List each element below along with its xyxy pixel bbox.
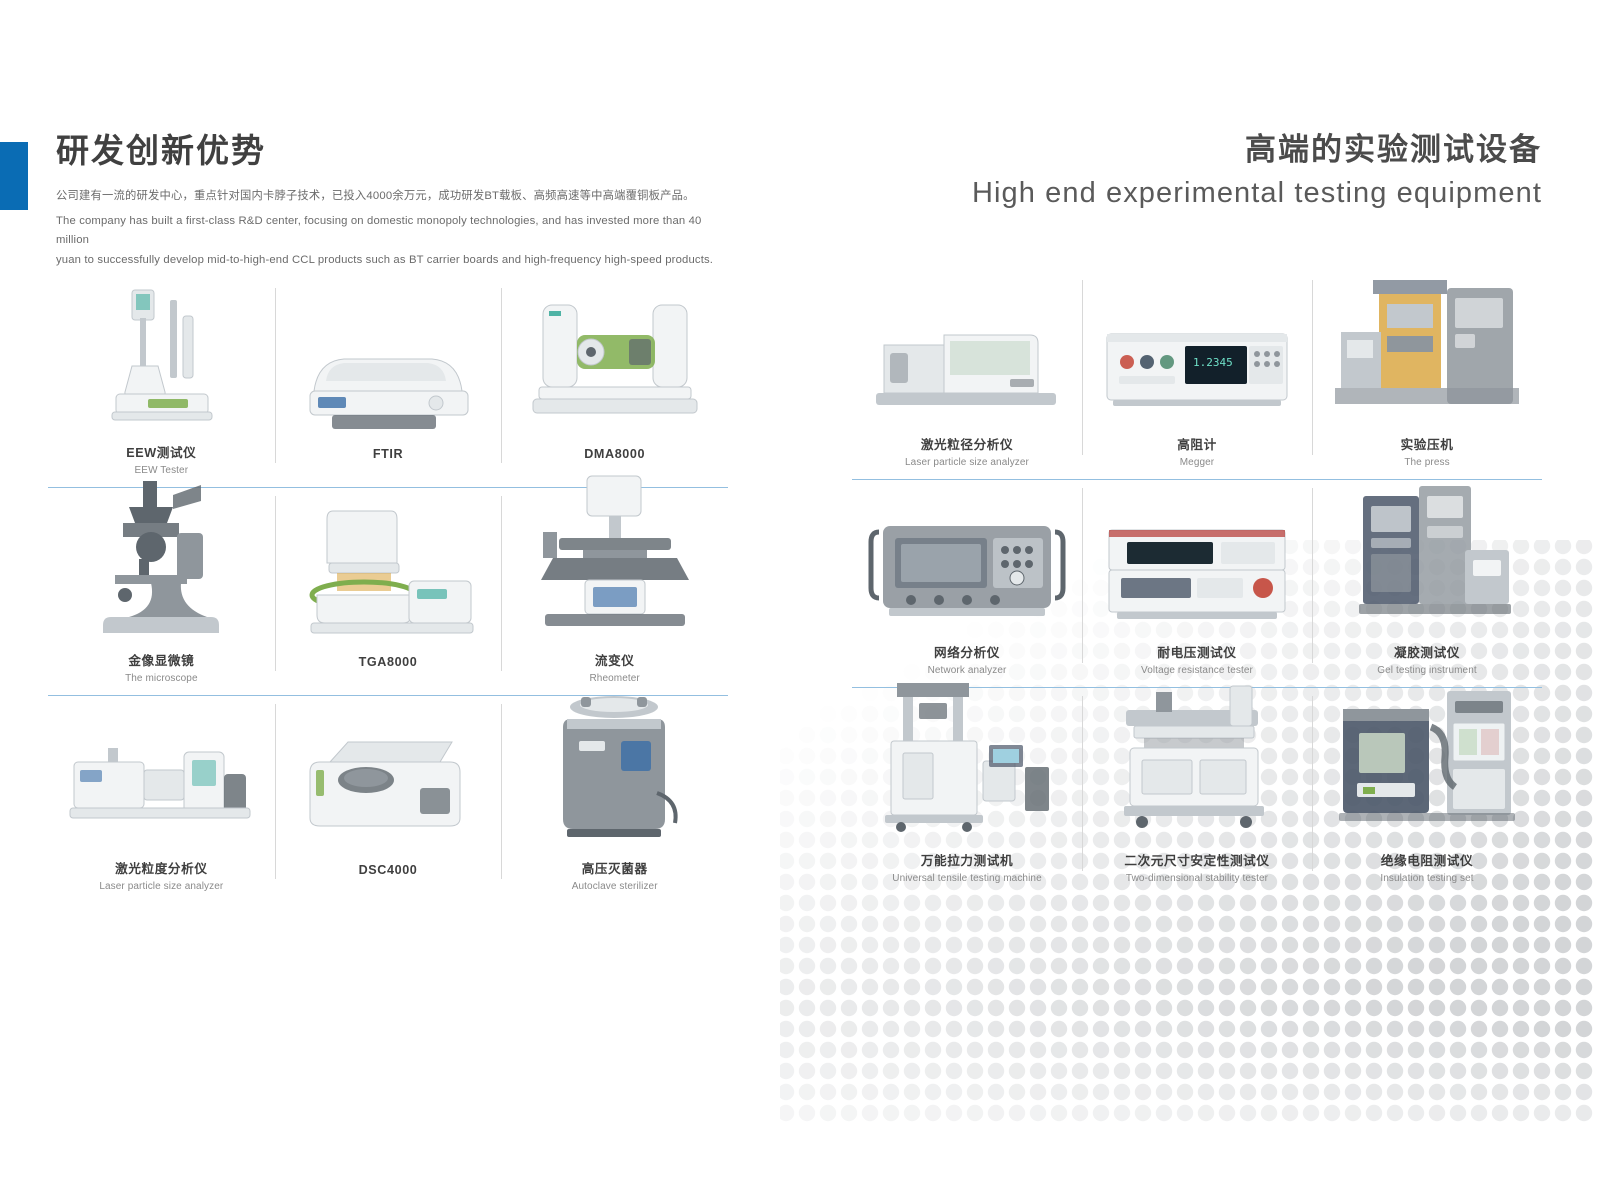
equipment-name-cn: 耐电压测试仪 (1157, 642, 1236, 661)
rnd-advantage-section: 研发创新优势 公司建有一流的研发中心，重点针对国内卡脖子技术，已投入4000余万… (56, 130, 728, 270)
equipment-name-cn: 万能拉力测试机 (921, 850, 1013, 869)
equipment-card[interactable]: 流变仪Rheometer (501, 488, 728, 685)
equipment-card[interactable]: DMA8000 (501, 280, 728, 477)
intro-paragraph-en-line2: yuan to successfully develop mid-to-high… (56, 251, 728, 270)
equipment-card[interactable]: 1.2345高阻计Megger (1082, 272, 1312, 469)
equipment-card[interactable]: 网络分析仪Network analyzer (852, 480, 1082, 677)
equipment-row: 激光粒径分析仪Laser particle size analyzer1.234… (852, 272, 1542, 469)
equipment-name-cn: 实验压机 (1401, 434, 1454, 453)
equipment-card[interactable]: 二次元尺寸安定性测试仪Two-dimensional stability tes… (1082, 688, 1312, 885)
equipment-name-cn: EEW测试仪 (126, 442, 196, 461)
intro-paragraph-en-line1: The company has built a first-class R&D … (56, 212, 728, 251)
equipment-name-cn: TGA8000 (359, 655, 418, 669)
optical-microscope-icon (54, 488, 269, 640)
equipment-row: EEW测试仪EEW TesterFTIRDMA8000 (48, 280, 728, 477)
page-title-right-en: High end experimental testing equipment (972, 174, 1542, 213)
svg-text:1.2345: 1.2345 (1193, 356, 1233, 369)
insulation-testing-set-icon (1318, 688, 1536, 840)
ftir-spectrometer-icon (281, 285, 496, 437)
equipment-name-cn: 金像显微镜 (128, 650, 194, 669)
equipment-name-cn: 高阻计 (1177, 434, 1217, 453)
equipment-grid-right: 激光粒径分析仪Laser particle size analyzer1.234… (852, 272, 1542, 885)
laser-diffraction-analyzer-icon (858, 272, 1076, 424)
intro-paragraph-cn: 公司建有一流的研发中心，重点针对国内卡脖子技术，已投入4000余万元，成功研发B… (56, 187, 728, 206)
equipment-card[interactable]: EEW测试仪EEW Tester (48, 280, 275, 477)
equipment-name-cn: DMA8000 (584, 447, 645, 461)
lab-press-machine-icon (1318, 272, 1536, 424)
equipment-heading-section: 高端的实验测试设备 High end experimental testing … (972, 130, 1542, 213)
titrator-instrument-icon (54, 280, 269, 432)
equipment-name-cn: 高压灭菌器 (582, 858, 648, 877)
equipment-card[interactable]: 激光粒度分析仪Laser particle size analyzer (48, 696, 275, 893)
equipment-name-cn: 凝胶测试仪 (1394, 642, 1460, 661)
equipment-card[interactable]: FTIR (275, 280, 502, 477)
gel-testing-instrument-icon (1318, 480, 1536, 632)
equipment-name-en: Two-dimensional stability tester (1126, 873, 1268, 885)
equipment-card[interactable]: 激光粒径分析仪Laser particle size analyzer (852, 272, 1082, 469)
equipment-name-cn: 激光粒度分析仪 (115, 858, 207, 877)
rheometer-instrument-icon (507, 488, 722, 640)
equipment-name-en: Universal tensile testing machine (892, 873, 1041, 885)
equipment-card[interactable]: 高压灭菌器Autoclave sterilizer (501, 696, 728, 893)
megger-meter-icon: 1.2345 (1088, 272, 1306, 424)
page-title-left: 研发创新优势 (56, 130, 728, 171)
equipment-card[interactable]: 万能拉力测试机Universal tensile testing machine (852, 688, 1082, 885)
equipment-card[interactable]: DSC4000 (275, 696, 502, 893)
two-dimensional-tester-icon (1088, 688, 1306, 840)
equipment-row: 金像显微镜The microscopeTGA8000流变仪Rheometer (48, 488, 728, 685)
dma-analyzer-icon (507, 285, 722, 437)
equipment-card[interactable]: 凝胶测试仪Gel testing instrument (1312, 480, 1542, 677)
equipment-card[interactable]: TGA8000 (275, 488, 502, 685)
equipment-name-en: Laser particle size analyzer (905, 457, 1029, 469)
page-title-right-cn: 高端的实验测试设备 (972, 130, 1542, 170)
equipment-card[interactable]: 耐电压测试仪Voltage resistance tester (1082, 480, 1312, 677)
equipment-name-cn: DSC4000 (359, 863, 418, 877)
equipment-name-en: Insulation testing set (1380, 873, 1473, 885)
equipment-name-cn: 二次元尺寸安定性测试仪 (1124, 850, 1269, 869)
equipment-name-cn: 网络分析仪 (934, 642, 1000, 661)
equipment-card[interactable]: 实验压机The press (1312, 272, 1542, 469)
equipment-row: 万能拉力测试机Universal tensile testing machine… (852, 688, 1542, 885)
equipment-name-cn: 绝缘电阻测试仪 (1381, 850, 1473, 869)
equipment-name-en: Laser particle size analyzer (99, 881, 223, 893)
equipment-grid-left: EEW测试仪EEW TesterFTIRDMA8000金像显微镜The micr… (48, 280, 728, 893)
equipment-name-en: Megger (1180, 457, 1215, 469)
network-analyzer-icon (858, 480, 1076, 632)
equipment-card[interactable]: 绝缘电阻测试仪Insulation testing set (1312, 688, 1542, 885)
equipment-name-cn: 流变仪 (595, 650, 635, 669)
dsc-calorimeter-icon (281, 701, 496, 853)
brochure-page: 研发创新优势 公司建有一流的研发中心，重点针对国内卡脖子技术，已投入4000余万… (0, 0, 1600, 1200)
equipment-name-en: Autoclave sterilizer (572, 881, 658, 893)
equipment-row: 激光粒度分析仪Laser particle size analyzerDSC40… (48, 696, 728, 893)
autoclave-sterilizer-icon (507, 696, 722, 848)
voltage-resistance-tester-icon (1088, 480, 1306, 632)
laser-particle-analyzer-icon (54, 696, 269, 848)
equipment-name-cn: FTIR (373, 447, 403, 461)
tga-analyzer-icon (281, 493, 496, 645)
equipment-card[interactable]: 金像显微镜The microscope (48, 488, 275, 685)
left-accent-bar (0, 142, 28, 210)
equipment-name-en: The microscope (125, 673, 198, 685)
equipment-name-en: Voltage resistance tester (1141, 665, 1253, 677)
equipment-name-cn: 激光粒径分析仪 (921, 434, 1013, 453)
equipment-row: 网络分析仪Network analyzer耐电压测试仪Voltage resis… (852, 480, 1542, 677)
equipment-name-en: The press (1404, 457, 1449, 469)
tensile-testing-machine-icon (858, 688, 1076, 840)
